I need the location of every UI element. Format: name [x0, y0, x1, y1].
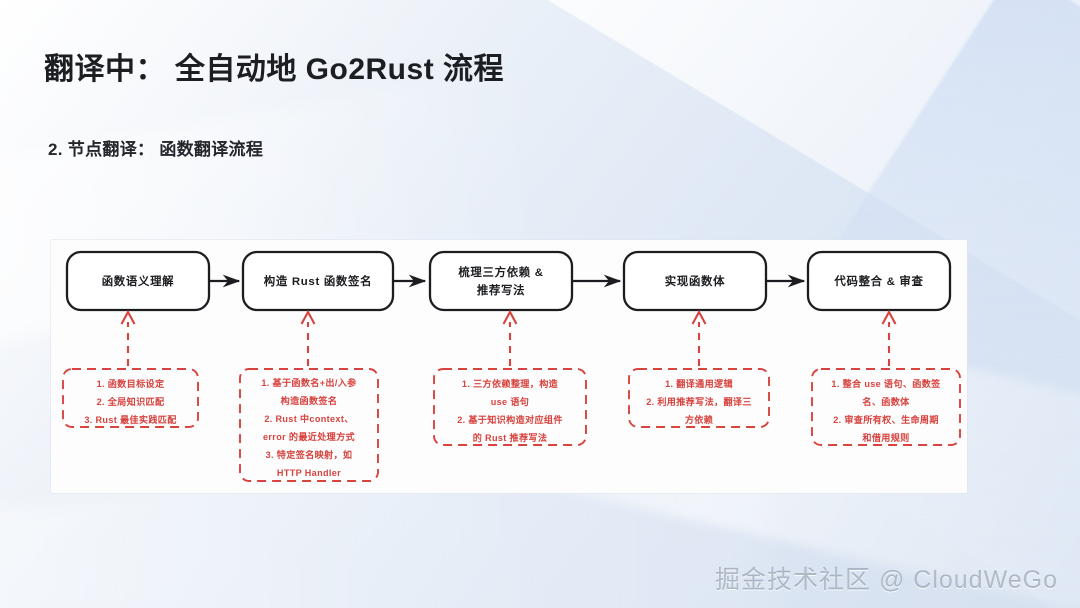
note-box-2[interactable]: 1. 基于函数名+出/入参 构造函数签名 2. Rust 中context、 e… [240, 369, 378, 481]
note-connector-3 [504, 312, 517, 366]
flow-node-1[interactable]: 函数语义理解 [67, 252, 209, 310]
note-1-line-1: 1. 函数目标设定 [97, 378, 165, 389]
note-4-line-1: 1. 翻译通用逻辑 [665, 378, 733, 389]
note-3-line-2: use 语句 [491, 396, 529, 407]
flow-diagram-panel: 函数语义理解 构造 Rust 函数签名 梳理三方依赖 & 推荐写法 实现函数体 … [51, 240, 967, 493]
note-connector-2 [302, 312, 315, 366]
flow-node-5[interactable]: 代码整合 & 审查 [808, 252, 950, 310]
flow-node-2-label: 构造 Rust 函数签名 [264, 274, 372, 288]
flow-node-4[interactable]: 实现函数体 [624, 252, 766, 310]
note-box-3[interactable]: 1. 三方依赖整理，构造 use 语句 2. 基于知识构造对应组件 的 Rust… [434, 369, 586, 445]
flow-diagram: 函数语义理解 构造 Rust 函数签名 梳理三方依赖 & 推荐写法 实现函数体 … [51, 240, 967, 493]
flow-node-3[interactable]: 梳理三方依赖 & 推荐写法 [430, 252, 572, 310]
note-connector-1 [122, 312, 135, 366]
note-2-line-2: 构造函数签名 [281, 395, 338, 406]
note-5-line-3: 2. 审查所有权、生命周期 [833, 414, 939, 425]
note-1-line-2: 2. 全局知识匹配 [97, 396, 165, 407]
note-box-1[interactable]: 1. 函数目标设定 2. 全局知识匹配 3. Rust 最佳实践匹配 [63, 369, 198, 427]
note-box-4[interactable]: 1. 翻译通用逻辑 2. 利用推荐写法，翻译三 方依赖 [629, 369, 769, 427]
slide-canvas: 翻译中： 全自动地 Go2Rust 流程 2. 节点翻译： 函数翻译流程 函数语… [0, 0, 1080, 608]
node-box [430, 252, 572, 310]
flow-node-3-label-line-1: 梳理三方依赖 & [458, 265, 543, 279]
note-connector-5 [883, 312, 896, 366]
note-2-line-6: HTTP Handler [277, 468, 341, 478]
flow-node-1-label: 函数语义理解 [102, 274, 175, 288]
flow-node-3-label-line-2: 推荐写法 [477, 283, 525, 297]
page-subtitle: 2. 节点翻译： 函数翻译流程 [48, 135, 263, 160]
note-2-line-1: 1. 基于函数名+出/入参 [261, 377, 357, 388]
note-box-5[interactable]: 1. 整合 use 语句、函数签 名、函数体 2. 审查所有权、生命周期 和借用… [812, 369, 960, 445]
note-5-line-2: 名、函数体 [862, 396, 910, 407]
note-4-line-3: 方依赖 [685, 414, 714, 425]
note-3-line-4: 的 Rust 推荐写法 [473, 432, 548, 443]
flow-node-5-label: 代码整合 & 审查 [833, 274, 923, 288]
note-3-line-3: 2. 基于知识构造对应组件 [457, 414, 563, 425]
note-4-line-2: 2. 利用推荐写法，翻译三 [646, 396, 752, 407]
note-connector-4 [693, 312, 706, 366]
note-5-line-1: 1. 整合 use 语句、函数签 [831, 378, 941, 389]
flow-node-4-label: 实现函数体 [665, 274, 725, 288]
note-2-line-4: error 的最近处理方式 [263, 431, 355, 442]
flow-node-2[interactable]: 构造 Rust 函数签名 [243, 252, 393, 310]
note-2-line-3: 2. Rust 中context、 [264, 413, 353, 424]
note-2-line-5: 3. 特定签名映射，如 [266, 449, 353, 460]
page-title: 翻译中： 全自动地 Go2Rust 流程 [44, 44, 504, 88]
watermark: 掘金技术社区 @ CloudWeGo [715, 560, 1058, 596]
note-5-line-4: 和借用规则 [861, 432, 909, 443]
note-3-line-1: 1. 三方依赖整理，构造 [462, 378, 559, 389]
note-1-line-3: 3. Rust 最佳实践匹配 [84, 414, 176, 425]
